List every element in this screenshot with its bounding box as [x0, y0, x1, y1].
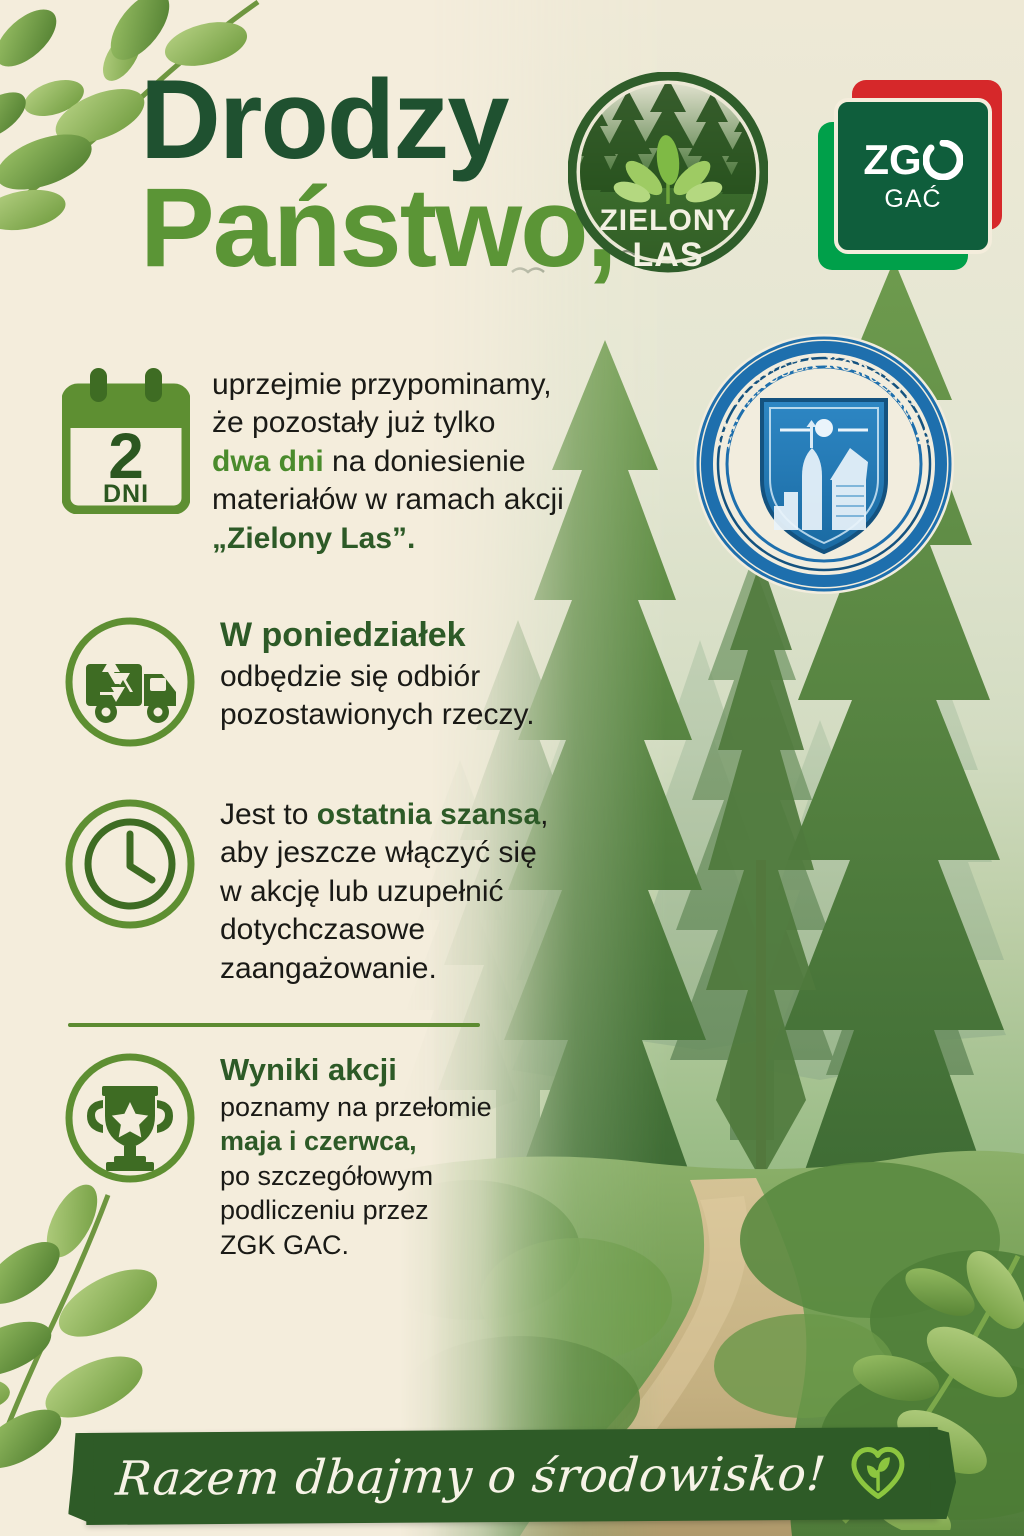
days-campaign-name: „Zielony Las”.: [212, 522, 415, 555]
logo-sub-text: GAĆ: [884, 185, 941, 214]
block-results-text: Wyniki akcji poznamy na przełomie maja i…: [220, 1050, 492, 1262]
logo-wordmark: ZG: [863, 139, 962, 181]
heart-leaf-icon: [848, 1443, 908, 1503]
block-days-text: uprzejmie przypominamy, że pozostały już…: [212, 366, 564, 558]
block-monday-text: W poniedziałek odbędzie się odbiór pozos…: [220, 614, 535, 734]
days-line-3-tail: na doniesienie: [324, 445, 526, 478]
chance-line-1: aby jeszcze włączyć się: [220, 836, 537, 869]
zielony-las-badge: ZIELONY LAS: [568, 72, 768, 282]
path-highlight: [616, 1196, 748, 1438]
chance-line-4: zaangażowanie.: [220, 952, 437, 985]
days-line-1: uprzejmie przypominamy,: [212, 368, 552, 401]
info-block-days: 2 DNI uprzejmie przypominamy, że pozosta…: [62, 366, 682, 558]
calendar-label: DNI: [103, 480, 149, 508]
calendar-icon: 2 DNI: [62, 366, 190, 514]
results-line-1: poznamy na przełomie: [220, 1092, 492, 1122]
recycling-truck-icon: [62, 614, 198, 750]
truck-shape: [86, 664, 176, 723]
chance-lead: Jest to: [220, 798, 317, 831]
footer-slogan: Razem dbajmy o środowisko!: [114, 1446, 828, 1506]
clock-icon: [62, 796, 198, 932]
chance-lead-tail: ,: [540, 798, 548, 831]
trophy-icon: [62, 1050, 198, 1186]
badge-line-2: LAS: [633, 236, 704, 274]
clock-hands: [130, 834, 152, 880]
school-seal: IM. JANUSZA KORCZAKA W SZKOŁA PODSTAWOWA: [690, 330, 958, 598]
zgo-gac-logo[interactable]: ZG GAĆ: [818, 80, 1004, 270]
info-block-monday: W poniedziałek odbędzie się odbiór pozos…: [62, 614, 682, 750]
monday-heading: W poniedziałek: [220, 614, 466, 658]
info-block-results: Wyniki akcji poznamy na przełomie maja i…: [62, 1050, 622, 1262]
monday-line-2: pozostawionych rzeczy.: [220, 698, 535, 731]
logo-zg-text: ZG: [863, 139, 921, 181]
badge-line-1: ZIELONY: [599, 204, 736, 237]
chance-line-3: dotychczasowe: [220, 913, 425, 946]
footer-banner: Razem dbajmy o środowisko!: [86, 1427, 939, 1525]
logo-o-ring-icon: [923, 140, 963, 180]
days-line-4: materiałów w ramach akcji: [212, 483, 564, 516]
results-highlight: maja i czerwca,: [220, 1126, 417, 1156]
days-highlight: dwa dni: [212, 445, 324, 478]
results-line-3: podliczeniu przez: [220, 1195, 429, 1225]
results-heading: Wyniki akcji: [220, 1050, 397, 1090]
poster-root: Drodzy Państwo,: [0, 0, 1024, 1536]
section-divider: [68, 1023, 480, 1027]
results-line-2: po szczegółowym: [220, 1161, 433, 1191]
chance-highlight: ostatnia szansa: [317, 798, 540, 831]
results-line-4: ZGK GAC.: [220, 1230, 349, 1260]
days-line-2: że pozostały już tylko: [212, 406, 495, 439]
chance-line-2: w akcję lub uzupełnić: [220, 875, 504, 908]
block-last-chance-text: Jest to ostatnia szansa, aby jeszcze włą…: [220, 796, 548, 988]
monday-line-1: odbędzie się odbiór: [220, 660, 480, 693]
info-block-last-chance: Jest to ostatnia szansa, aby jeszcze włą…: [62, 796, 682, 988]
